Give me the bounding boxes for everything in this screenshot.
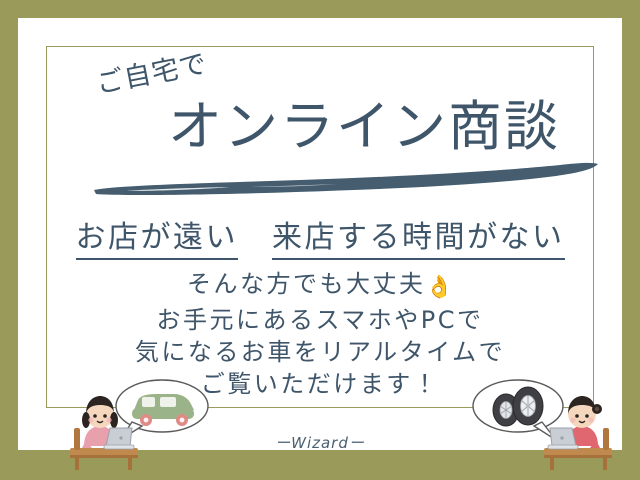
subtitle-item-1: 来店する時間がない <box>272 212 565 260</box>
woman-at-laptop-with-tires-bubble-illustration <box>470 376 622 472</box>
tires-speech-bubble-icon <box>473 380 563 440</box>
desk-icon <box>544 448 612 470</box>
ok-hand-icon: 👌 <box>426 275 453 300</box>
kicker-text: ご自宅で <box>93 41 210 101</box>
body-line-1: お手元にあるスマホやPCで <box>18 304 622 336</box>
subtitle-row: お店が遠い 来店する時間がない <box>18 212 622 260</box>
page-title: オンライン商談 <box>168 100 560 154</box>
body-line-2: 気になるお車をリアルタイムで <box>18 336 622 368</box>
subtitle-item-0: お店が遠い <box>76 212 239 260</box>
paper-background: ご自宅で オンライン商談 お店が遠い 来店する時間がない そんな方でも大丈夫👌 … <box>18 18 622 450</box>
chair-icon <box>603 428 609 450</box>
body-line-0-text: そんな方でも大丈夫 <box>187 270 426 298</box>
banner-content: ご自宅で オンライン商談 お店が遠い 来店する時間がない そんな方でも大丈夫👌 … <box>18 18 622 450</box>
desk-icon <box>70 448 138 470</box>
woman-at-laptop-with-car-bubble-illustration <box>62 376 214 472</box>
brush-stroke-underline <box>90 160 602 198</box>
body-line-0: そんな方でも大丈夫👌 <box>18 268 622 304</box>
promo-banner: ご自宅で オンライン商談 お店が遠い 来店する時間がない そんな方でも大丈夫👌 … <box>0 0 640 480</box>
chair-icon <box>74 428 80 450</box>
